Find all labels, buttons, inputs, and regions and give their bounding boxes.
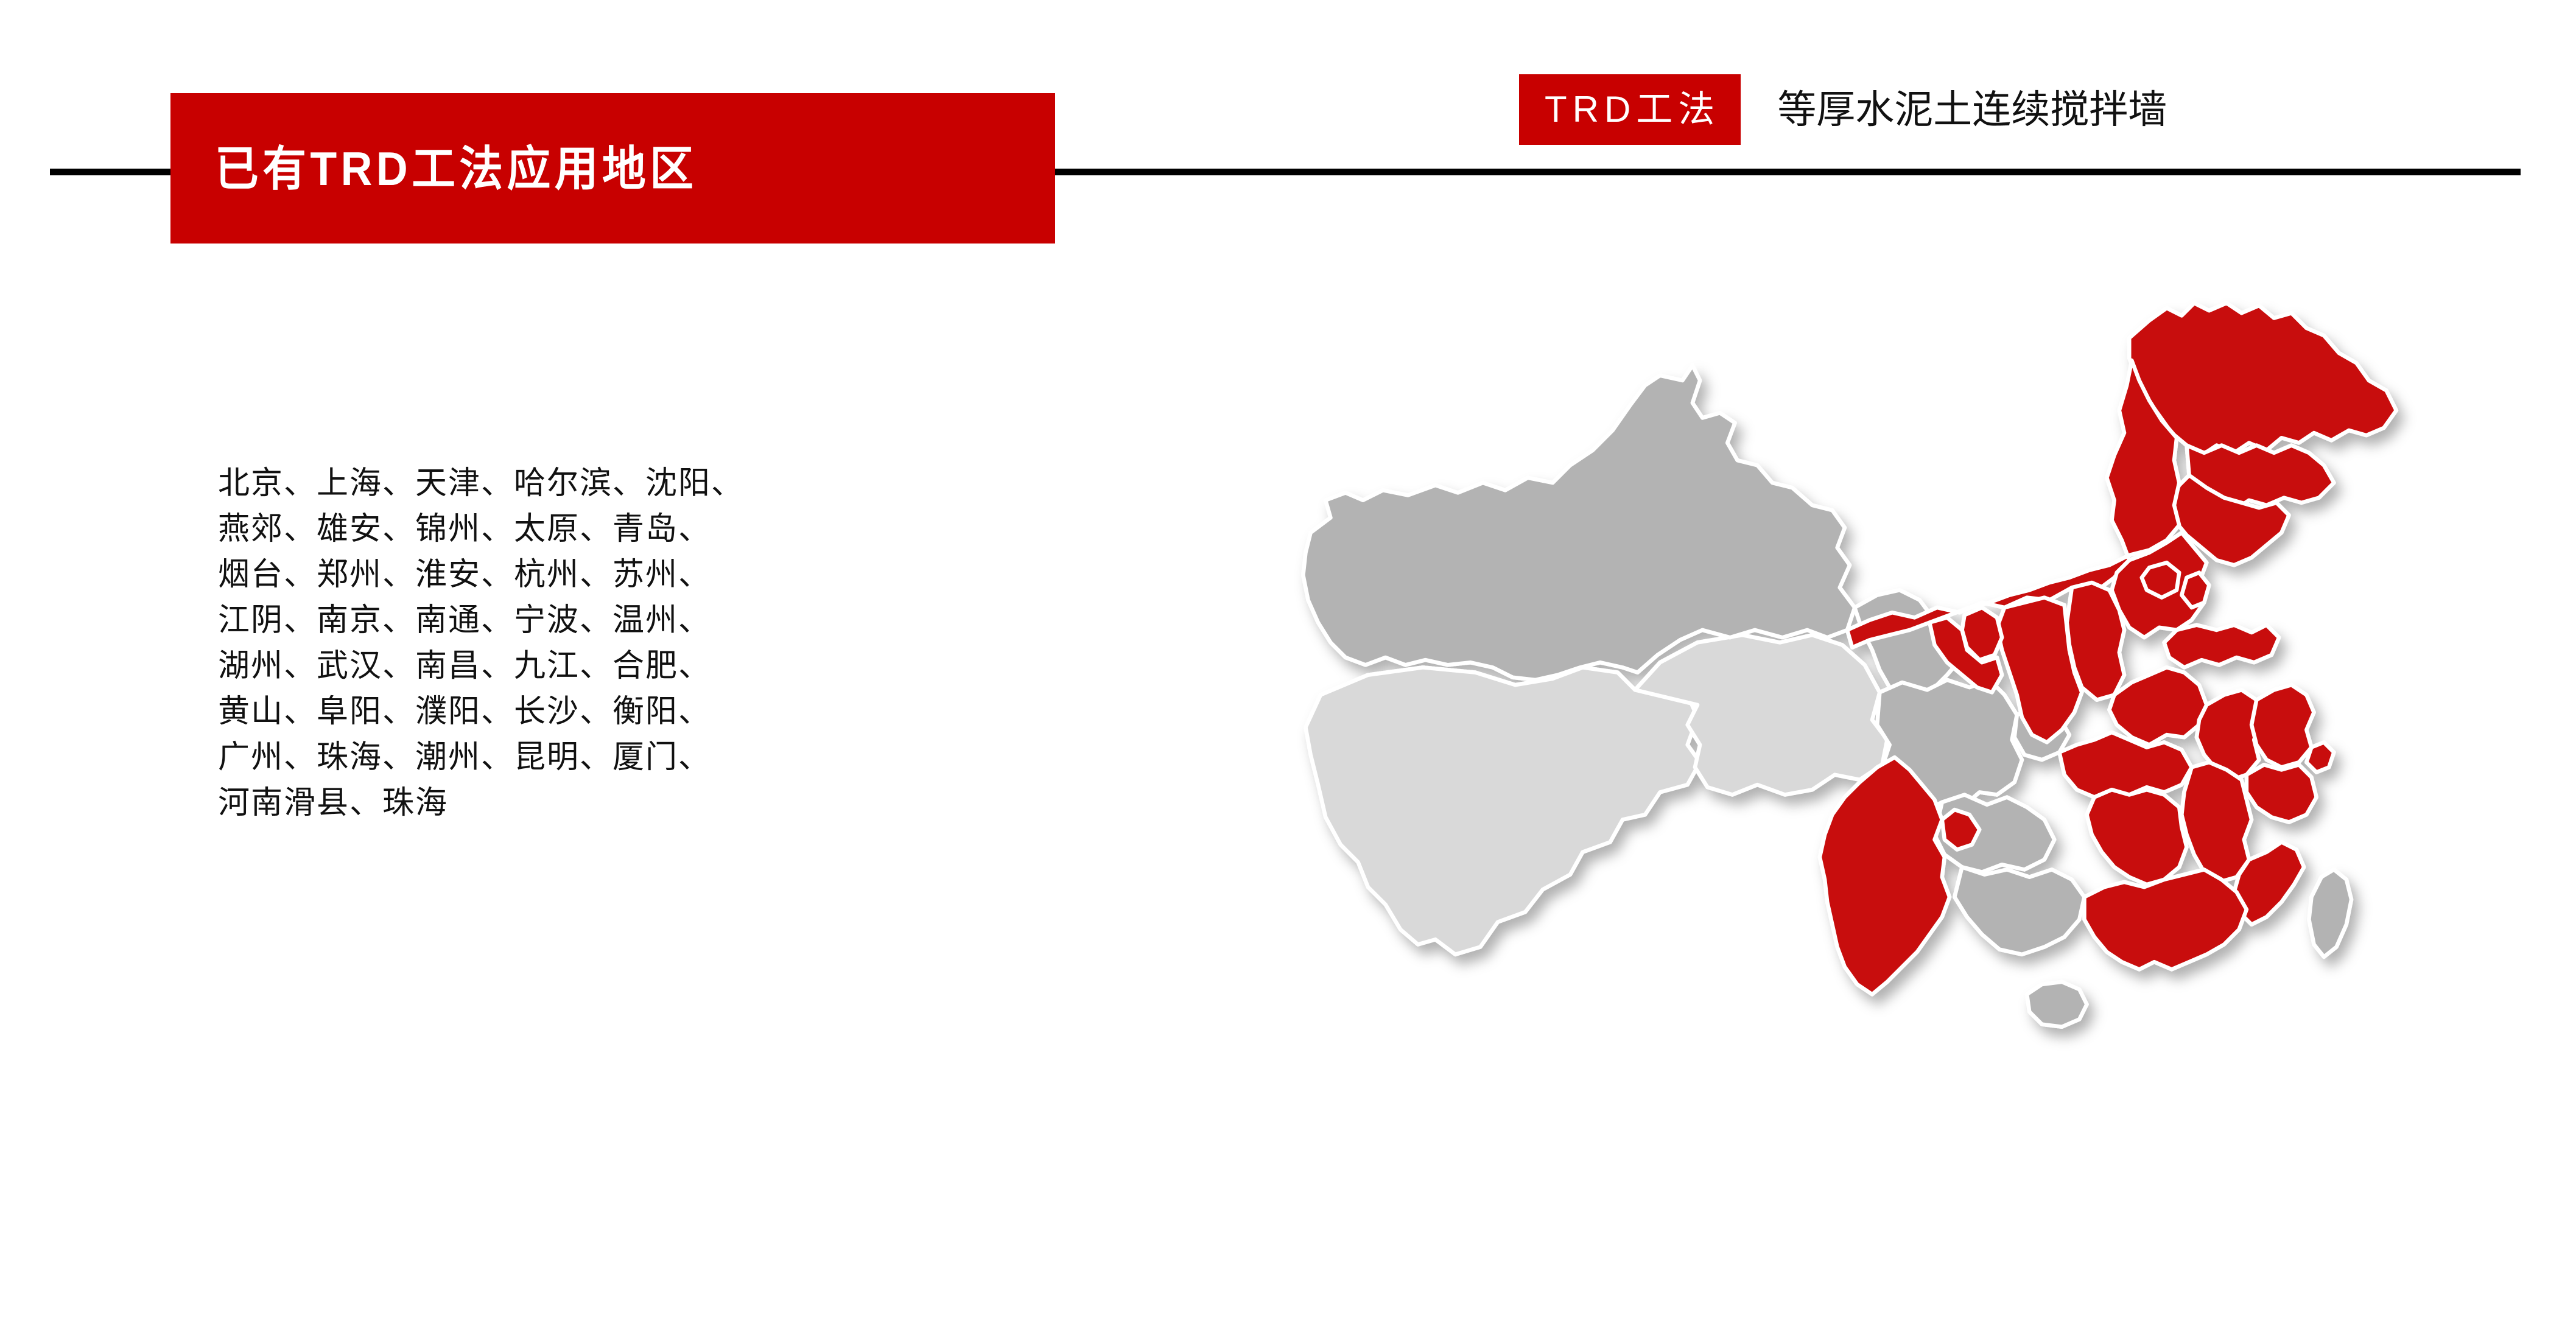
china-map-svg bbox=[1248, 256, 2496, 1260]
header-rule-right bbox=[1055, 169, 2521, 175]
province-shandong bbox=[2164, 625, 2279, 668]
city-line: 湖州、武汉、南昌、九江、合肥、 bbox=[218, 643, 1131, 689]
brand-subtitle: 等厚水泥土连续搅拌墙 bbox=[1777, 90, 2167, 129]
province-hunan bbox=[2087, 790, 2187, 885]
brand-badge: TRD工法 bbox=[1519, 74, 1741, 145]
china-map bbox=[1248, 256, 2496, 1260]
province-hubei bbox=[2059, 732, 2191, 797]
city-line: 烟台、郑州、淮安、杭州、苏州、 bbox=[218, 552, 1131, 598]
city-line: 北京、上海、天津、哈尔滨、沈阳、 bbox=[218, 461, 1131, 506]
city-line: 燕郊、雄安、锦州、太原、青岛、 bbox=[218, 506, 1131, 552]
city-list: 北京、上海、天津、哈尔滨、沈阳、 燕郊、雄安、锦州、太原、青岛、 烟台、郑州、淮… bbox=[218, 461, 1131, 826]
province-beijing bbox=[2142, 562, 2179, 597]
province-jiangxi bbox=[2181, 762, 2251, 882]
city-line: 河南滑县、珠海 bbox=[218, 780, 1131, 826]
province-xinjiang bbox=[1303, 365, 1855, 680]
header-rule-left bbox=[50, 169, 170, 175]
province-guangxi bbox=[1954, 867, 2084, 954]
city-line: 江阴、南京、南通、宁波、温州、 bbox=[218, 598, 1131, 643]
city-line: 广州、珠海、潮州、昆明、厦门、 bbox=[218, 735, 1131, 780]
province-xizang bbox=[1305, 667, 1700, 954]
brand-block: TRD工法 等厚水泥土连续搅拌墙 bbox=[1519, 74, 2167, 145]
province-zhejiang bbox=[2247, 765, 2317, 822]
city-line: 黄山、阜阳、濮阳、长沙、衡阳、 bbox=[218, 689, 1131, 735]
page-title: 已有TRD工法应用地区 bbox=[215, 145, 697, 192]
province-shanghai bbox=[2306, 742, 2334, 772]
province-yunnan bbox=[1820, 757, 1950, 994]
province-guangdong bbox=[2084, 869, 2246, 969]
province-hainan bbox=[2027, 982, 2086, 1027]
province-tianjin bbox=[2181, 573, 2209, 608]
province-taiwan bbox=[2309, 869, 2351, 956]
province-jiangsu bbox=[2251, 685, 2314, 767]
title-banner: 已有TRD工法应用地区 bbox=[170, 93, 1055, 244]
slide-root: 已有TRD工法应用地区 TRD工法 等厚水泥土连续搅拌墙 北京、上海、天津、哈尔… bbox=[0, 0, 2576, 1321]
